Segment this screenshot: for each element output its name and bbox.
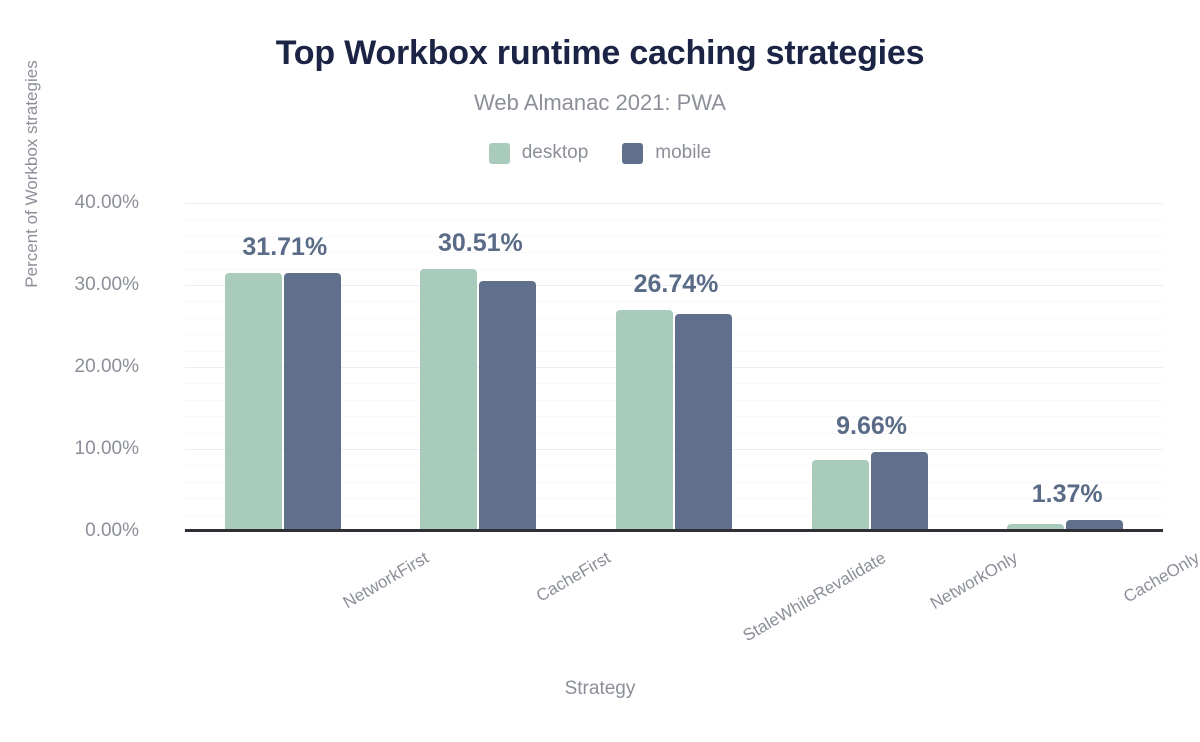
bar-mobile-stalewhilerevalidate[interactable] — [675, 314, 732, 531]
gridline-minor — [185, 252, 1163, 253]
bar-value-label: 30.51% — [438, 229, 523, 258]
bar-desktop-cachefirst[interactable] — [420, 269, 477, 531]
gridline-minor — [185, 236, 1163, 237]
bar-desktop-networkfirst[interactable] — [225, 273, 282, 531]
x-axis-title: Strategy — [0, 678, 1200, 700]
x-axis-category-label: CacheFirst — [533, 548, 614, 606]
bar-desktop-networkonly[interactable] — [812, 460, 869, 531]
bar-value-label: 31.71% — [242, 233, 327, 262]
gridline-major — [185, 203, 1163, 204]
bar-mobile-cachefirst[interactable] — [479, 281, 536, 531]
y-axis-tick-label: 30.00% — [0, 274, 139, 296]
bar-value-label: 26.74% — [634, 270, 719, 299]
bar-desktop-stalewhilerevalidate[interactable] — [616, 310, 673, 531]
plot-area: 0.00%10.00%20.00%30.00%40.00%31.71%30.51… — [185, 203, 1163, 531]
bar-mobile-networkonly[interactable] — [871, 452, 928, 531]
x-axis-baseline — [185, 529, 1163, 532]
legend-item-desktop[interactable]: desktop — [489, 142, 589, 164]
y-axis-tick-label: 10.00% — [0, 438, 139, 460]
legend-swatch-mobile — [622, 143, 643, 164]
x-axis-category-label: NetworkFirst — [340, 548, 433, 613]
legend-label-mobile: mobile — [655, 142, 711, 164]
bar-mobile-networkfirst[interactable] — [284, 273, 341, 531]
x-axis-category-label: CacheOnly — [1120, 548, 1200, 607]
x-axis-category-label: StaleWhileRevalidate — [740, 548, 890, 646]
legend-item-mobile[interactable]: mobile — [622, 142, 711, 164]
chart-subtitle: Web Almanac 2021: PWA — [0, 90, 1200, 116]
gridline-minor — [185, 219, 1163, 220]
legend-swatch-desktop — [489, 143, 510, 164]
chart-legend: desktop mobile — [0, 142, 1200, 164]
chart-title: Top Workbox runtime caching strategies — [0, 34, 1200, 73]
y-axis-tick-label: 40.00% — [0, 192, 139, 214]
x-axis-category-label: NetworkOnly — [927, 548, 1021, 614]
chart-container: Top Workbox runtime caching strategies W… — [0, 0, 1200, 742]
legend-label-desktop: desktop — [522, 142, 589, 164]
bar-value-label: 1.37% — [1032, 480, 1103, 509]
y-axis-tick-label: 0.00% — [0, 520, 139, 542]
y-axis-tick-label: 20.00% — [0, 356, 139, 378]
bar-value-label: 9.66% — [836, 412, 907, 441]
